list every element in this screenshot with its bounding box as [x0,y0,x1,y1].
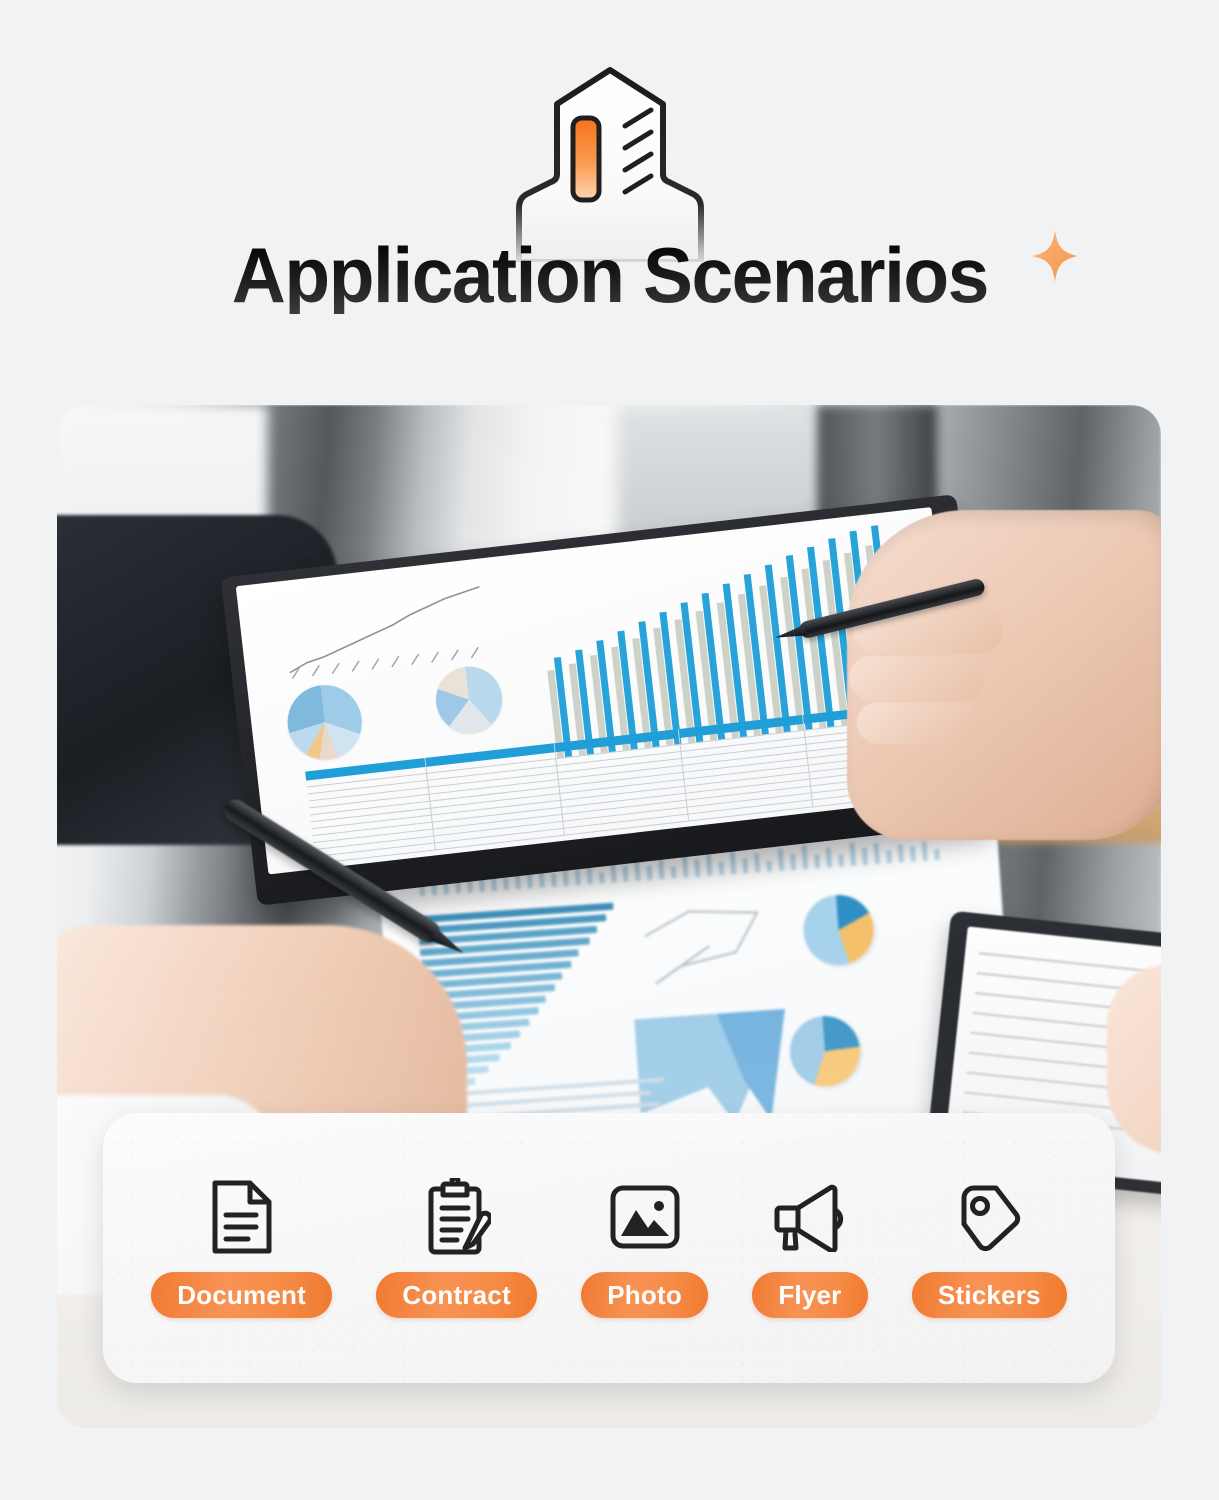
price-tag-icon [950,1178,1028,1256]
page-root: Application Scenarios [0,0,1219,1500]
scenario-label-stickers[interactable]: Stickers [912,1272,1067,1318]
scenario-item-contract[interactable]: Contract [376,1178,537,1318]
page-header: Application Scenarios [0,0,1219,390]
scenario-list: Document Contract [103,1113,1115,1383]
paper-pie-chart-2 [788,1014,863,1089]
scenario-item-stickers[interactable]: Stickers [912,1178,1067,1318]
report-line-chart [278,578,515,680]
sparkle-star-icon [1030,228,1080,284]
scenario-item-document[interactable]: Document [151,1178,332,1318]
report-pie-chart-1 [284,681,366,763]
scenario-label-document[interactable]: Document [151,1272,332,1318]
scenario-label-flyer[interactable]: Flyer [752,1272,867,1318]
scenario-card: Document Contract [103,1113,1115,1383]
clipboard-pencil-icon [418,1178,496,1256]
scenario-item-photo[interactable]: Photo [581,1178,708,1318]
scenario-item-flyer[interactable]: Flyer [752,1178,867,1318]
document-page-icon [203,1178,281,1256]
paper-pie-chart-1 [801,893,876,968]
hand-right-holding-pen [847,510,1161,840]
scenario-label-contract[interactable]: Contract [376,1272,537,1318]
megaphone-icon [771,1178,849,1256]
paper-scatter-chart [636,897,792,997]
paper-horizontal-bars [418,902,618,916]
page-title: Application Scenarios [231,236,987,314]
image-picture-icon [606,1178,684,1256]
report-pie-chart-2 [433,663,506,736]
scenario-label-photo[interactable]: Photo [581,1272,708,1318]
